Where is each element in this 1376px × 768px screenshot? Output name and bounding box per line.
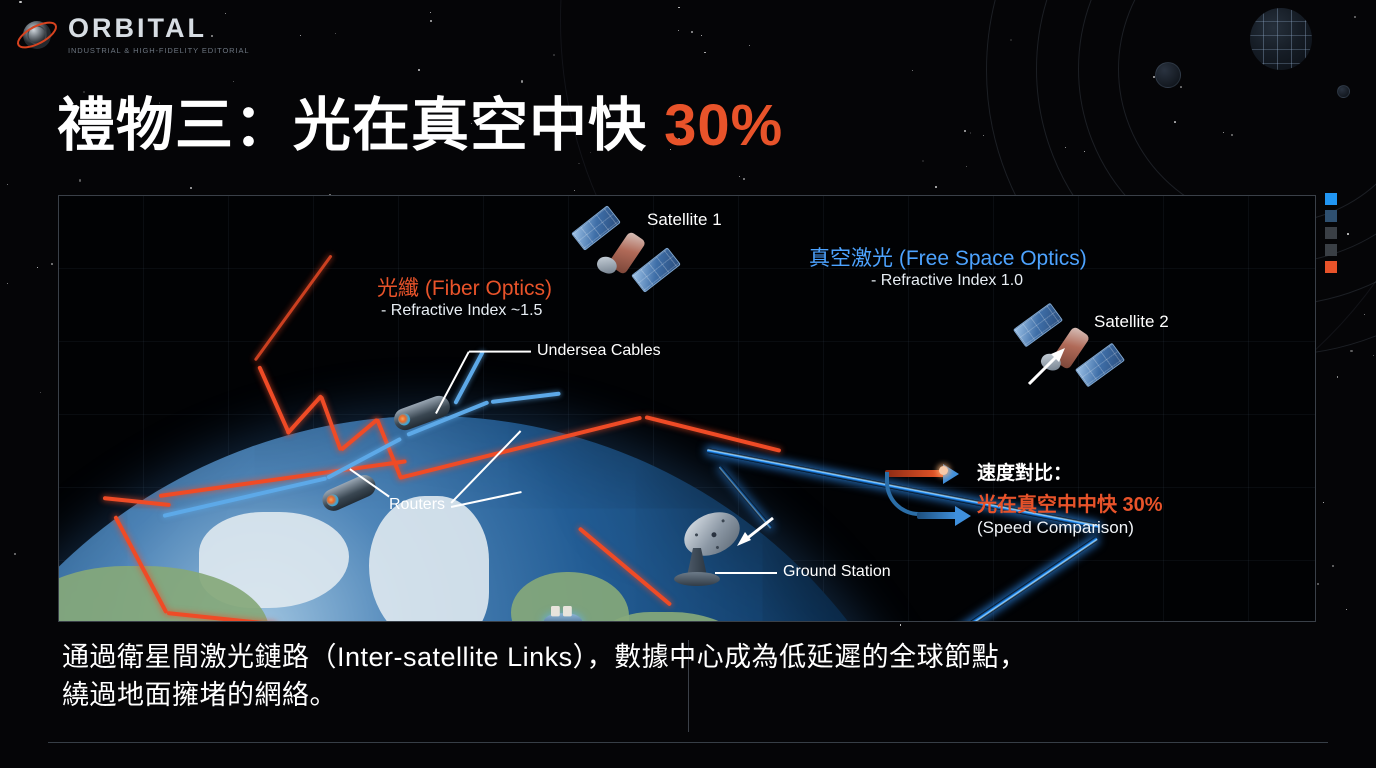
brand-name: ORBITAL	[68, 15, 249, 42]
legend-swatch-1[interactable]	[1325, 193, 1337, 205]
star	[966, 166, 967, 167]
star	[1180, 86, 1182, 88]
star	[79, 179, 81, 181]
star	[521, 80, 523, 82]
star	[900, 624, 901, 625]
label-free-space-optics-subtitle: - Refractive Index 1.0	[871, 272, 1023, 290]
label-satellite-2: Satellite 2	[1094, 312, 1169, 332]
bottom-rule	[48, 742, 1328, 743]
label-speed-comparison-main: 光在真空中中快 30%	[977, 488, 1163, 517]
diagram-panel: Satellite 1 Satellite 2 光纖 (Fiber Optics…	[58, 195, 1316, 622]
router-east	[544, 613, 582, 622]
slide-root: ORBITAL INDUSTRIAL & HIGH-FIDELITY EDITO…	[0, 0, 1376, 768]
star	[1337, 376, 1338, 377]
star	[7, 283, 8, 284]
star	[40, 392, 41, 393]
star	[1223, 132, 1224, 133]
label-undersea-cables: Undersea Cables	[537, 342, 661, 360]
star	[970, 132, 971, 133]
star	[743, 178, 745, 180]
label-speed-comparison-heading: 速度對比：	[977, 458, 1072, 485]
star	[1350, 350, 1352, 352]
label-ground-station: Ground Station	[783, 563, 891, 581]
arrow-to-satellite-2	[1027, 346, 1071, 391]
label-free-space-optics-title: 真空激光 (Free Space Optics)	[809, 242, 1087, 272]
caption-line-1: 通過衛星間激光鏈路（Inter-satellite Links），數據中心成為低…	[62, 638, 1242, 676]
star	[1065, 147, 1066, 148]
star	[983, 135, 984, 136]
brand-tagline: INDUSTRIAL & HIGH-FIDELITY EDITORIAL	[68, 46, 249, 55]
star	[7, 184, 8, 185]
fiber-route-seg7	[645, 415, 782, 453]
page-title-main: 禮物三：光在真空中快	[57, 93, 664, 158]
star	[1174, 121, 1176, 123]
star	[1373, 355, 1374, 356]
caption-line-2: 繞過地面擁堵的網絡。	[62, 676, 1242, 714]
star	[190, 187, 192, 189]
label-satellite-1: Satellite 1	[647, 210, 722, 230]
caption-block: 通過衛星間激光鏈路（Inter-satellite Links），數據中心成為低…	[62, 638, 1242, 715]
leader-ground-station	[715, 572, 777, 574]
star	[1364, 314, 1365, 315]
star	[14, 553, 16, 555]
legend-swatch-3[interactable]	[1325, 227, 1337, 239]
star	[1317, 583, 1318, 584]
brand-logo[interactable]: ORBITAL INDUSTRIAL & HIGH-FIDELITY EDITO…	[14, 12, 249, 58]
star	[574, 190, 575, 191]
legend-swatch-5[interactable]	[1325, 261, 1337, 273]
label-speed-comparison-english: (Speed Comparison)	[977, 518, 1134, 538]
legend-swatch-2[interactable]	[1325, 210, 1337, 222]
star	[37, 267, 38, 268]
orbital-planet-icon	[14, 12, 60, 58]
deco-moon-right	[1337, 85, 1350, 98]
star	[739, 176, 740, 177]
star	[1332, 565, 1334, 567]
arrow-to-ground-station	[735, 514, 775, 553]
page-title: 禮物三：光在真空中快 30%	[57, 96, 783, 157]
label-fiber-optics-subtitle: - Refractive Index ~1.5	[381, 302, 542, 320]
star	[922, 160, 924, 162]
star	[964, 130, 966, 132]
earth-globe	[58, 416, 959, 622]
page-title-accent: 30%	[664, 93, 783, 158]
star	[1346, 609, 1347, 610]
label-routers: Routers	[389, 496, 445, 514]
fiber-route-downlink	[254, 254, 333, 361]
star	[935, 186, 937, 188]
star	[1084, 151, 1085, 152]
label-fiber-optics-title: 光纖 (Fiber Optics)	[377, 272, 552, 302]
leader-undersea-cables	[469, 351, 531, 353]
undersea-cable-seg4	[491, 391, 561, 404]
fiber-route-seg1	[257, 365, 291, 434]
star	[233, 81, 234, 82]
undersea-cable-seg5	[453, 350, 485, 405]
star	[578, 163, 579, 164]
legend-swatches	[1325, 193, 1337, 273]
star	[1323, 502, 1324, 503]
star	[1231, 134, 1233, 136]
star	[51, 263, 53, 265]
caption-divider	[688, 640, 689, 732]
legend-swatch-4[interactable]	[1325, 244, 1337, 256]
header-bar: ORBITAL INDUSTRIAL & HIGH-FIDELITY EDITO…	[0, 0, 1376, 70]
star	[1347, 233, 1349, 235]
star	[912, 70, 913, 71]
